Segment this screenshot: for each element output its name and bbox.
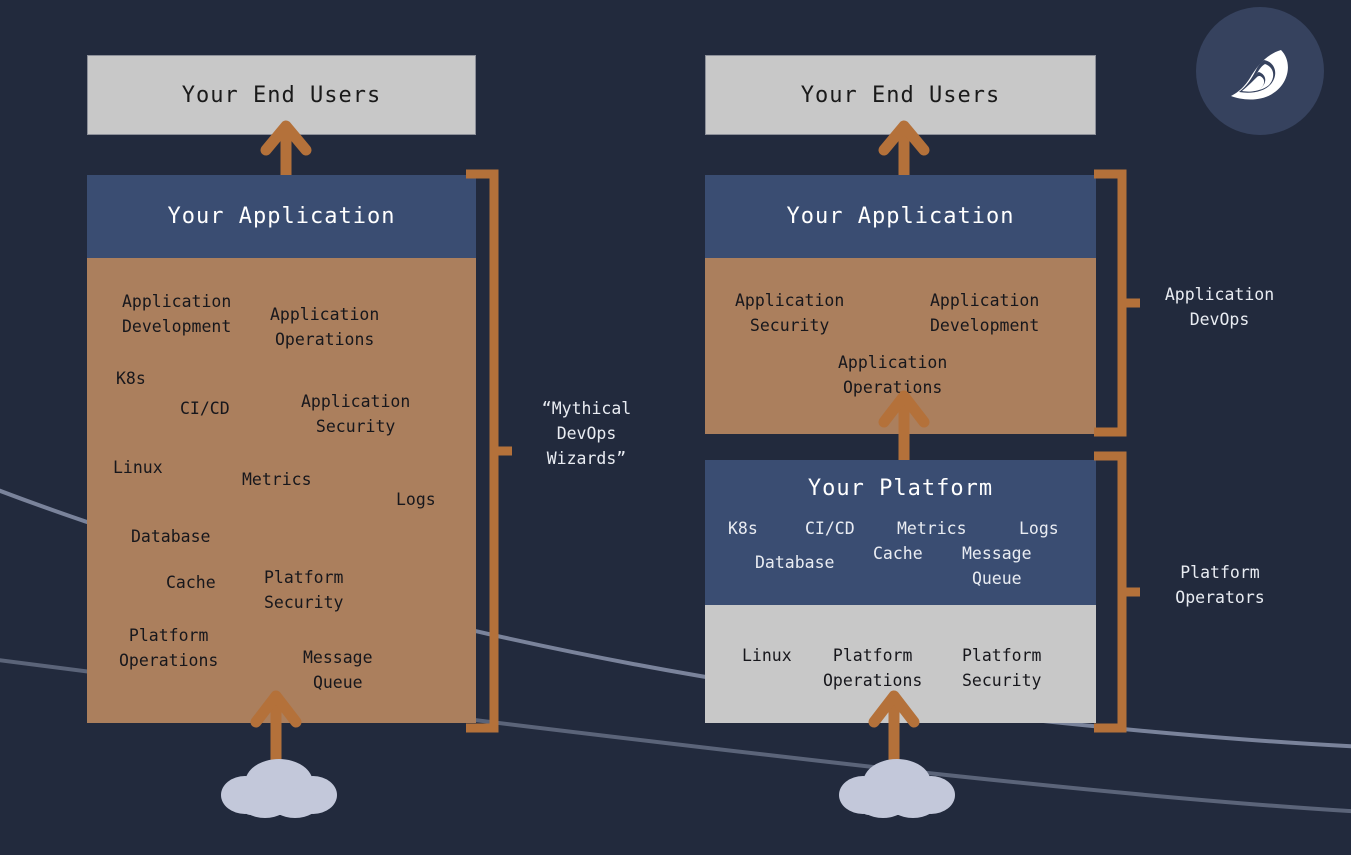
left-tag-10: Platform Security (264, 565, 343, 615)
right-app-tag-1: Application Development (930, 288, 1039, 338)
left-tag-5: Linux (113, 455, 163, 480)
left-tag-12: Message Queue (303, 645, 373, 695)
right-application-bracket-label: Application DevOps (1152, 282, 1287, 332)
right-infra-tag-2: Platform Security (962, 643, 1041, 693)
right-app-tag-0: Application Security (735, 288, 844, 338)
left-tag-4: Application Security (301, 389, 410, 439)
left-tag-11: Platform Operations (119, 623, 218, 673)
left-end-users-label: Your End Users (182, 83, 381, 108)
logo-shell-icon (1219, 30, 1301, 112)
right-platform-label: Your Platform (808, 476, 993, 501)
diagram-canvas: Your End Users Your Application Applicat… (0, 0, 1351, 855)
left-tag-3: CI/CD (180, 396, 230, 421)
left-end-users-box: Your End Users (87, 55, 476, 135)
left-application-box: Your Application (87, 175, 476, 258)
right-application-bracket (1094, 168, 1140, 438)
right-infra-tag-1: Platform Operations (823, 643, 922, 693)
left-bracket-label: “Mythical DevOps Wizards” (529, 396, 644, 471)
left-tag-1: Application Operations (270, 302, 379, 352)
left-tag-7: Logs (396, 487, 436, 512)
left-tag-0: Application Development (122, 289, 231, 339)
company-logo (1196, 7, 1324, 135)
left-tag-8: Database (131, 524, 210, 549)
right-platform-tag-2: Metrics (897, 516, 967, 541)
right-platform-tag-5: Cache (873, 541, 923, 566)
right-platform-bracket-label: Platform Operators (1160, 560, 1280, 610)
right-end-users-box: Your End Users (705, 55, 1096, 135)
right-end-users-label: Your End Users (801, 83, 1000, 108)
right-application-label: Your Application (787, 204, 1015, 229)
right-platform-bracket (1094, 450, 1140, 734)
right-infra-tag-0: Linux (742, 643, 792, 668)
right-platform-tag-6: Message Queue (962, 541, 1032, 591)
right-platform-tag-4: Database (755, 550, 834, 575)
left-cloud (215, 757, 343, 819)
right-platform-tag-3: Logs (1019, 516, 1059, 541)
right-application-box: Your Application (705, 175, 1096, 258)
left-application-label: Your Application (168, 204, 396, 229)
right-cloud (833, 757, 961, 819)
left-tag-9: Cache (166, 570, 216, 595)
right-platform-tag-1: CI/CD (805, 516, 855, 541)
left-tag-6: Metrics (242, 467, 312, 492)
right-platform-tag-0: K8s (728, 516, 758, 541)
left-tag-2: K8s (116, 366, 146, 391)
right-app-tag-2: Application Operations (838, 350, 947, 400)
right-app-responsibilities-box (705, 258, 1096, 434)
